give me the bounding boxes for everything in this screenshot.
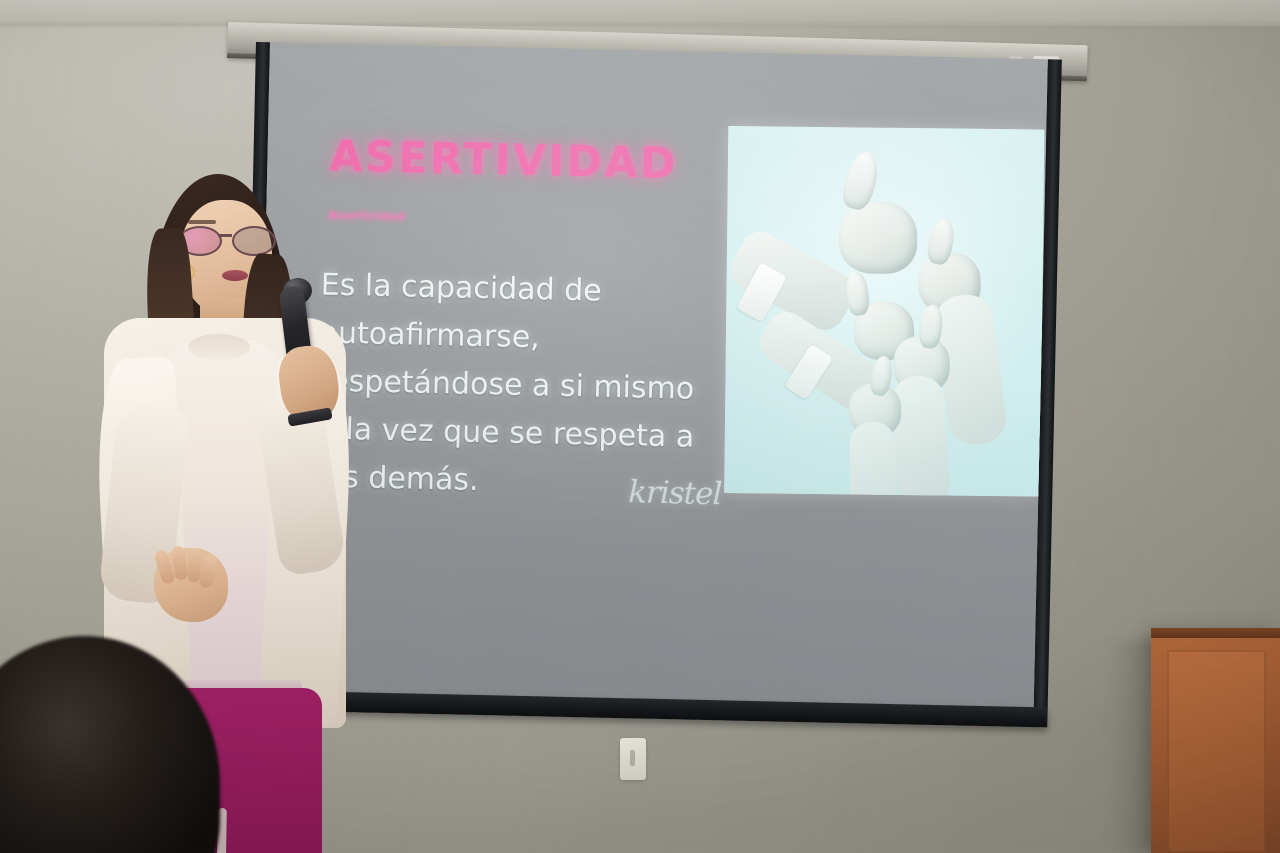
signature-text: kristel bbox=[628, 474, 722, 512]
lectern-top-edge bbox=[1151, 628, 1280, 638]
thumbs-up-photo bbox=[724, 126, 1044, 497]
presentation-photo: ASERTIVIDAD Asertividad Es la capacidad … bbox=[0, 0, 1280, 853]
ceiling bbox=[0, 0, 1280, 26]
projected-slide: ASERTIVIDAD Asertividad Es la capacidad … bbox=[256, 42, 1048, 713]
presenter-shirt-collar bbox=[188, 334, 250, 360]
slide-body-line-1: Es la capacidad de bbox=[320, 261, 725, 318]
glasses-bridge bbox=[218, 234, 232, 237]
slide-body-line-2: autoafirmarse, bbox=[319, 309, 724, 366]
wall-outlet bbox=[620, 738, 646, 780]
glasses-lens-right bbox=[232, 226, 276, 256]
slide-body-line-3: respetándose a si mismo bbox=[318, 357, 723, 414]
wooden-lectern bbox=[1151, 628, 1280, 853]
slide-body-text: Es la capacidad de autoafirmarse, respet… bbox=[316, 261, 725, 510]
slide-title: ASERTIVIDAD bbox=[329, 132, 678, 190]
presenter-eyebrow bbox=[188, 220, 216, 224]
presenter-left-hand bbox=[154, 548, 228, 622]
kristel-signature-logo: kristel bbox=[628, 474, 722, 505]
ceiling-wall-seam bbox=[0, 24, 1280, 26]
lectern-front-panel bbox=[1167, 650, 1266, 853]
projection-screen: ASERTIVIDAD Asertividad Es la capacidad … bbox=[242, 42, 1062, 713]
slide-body-line-4: a la vez que se respeta a bbox=[317, 405, 722, 462]
presenter-mouth bbox=[222, 270, 248, 281]
presenter-glasses bbox=[178, 226, 274, 253]
